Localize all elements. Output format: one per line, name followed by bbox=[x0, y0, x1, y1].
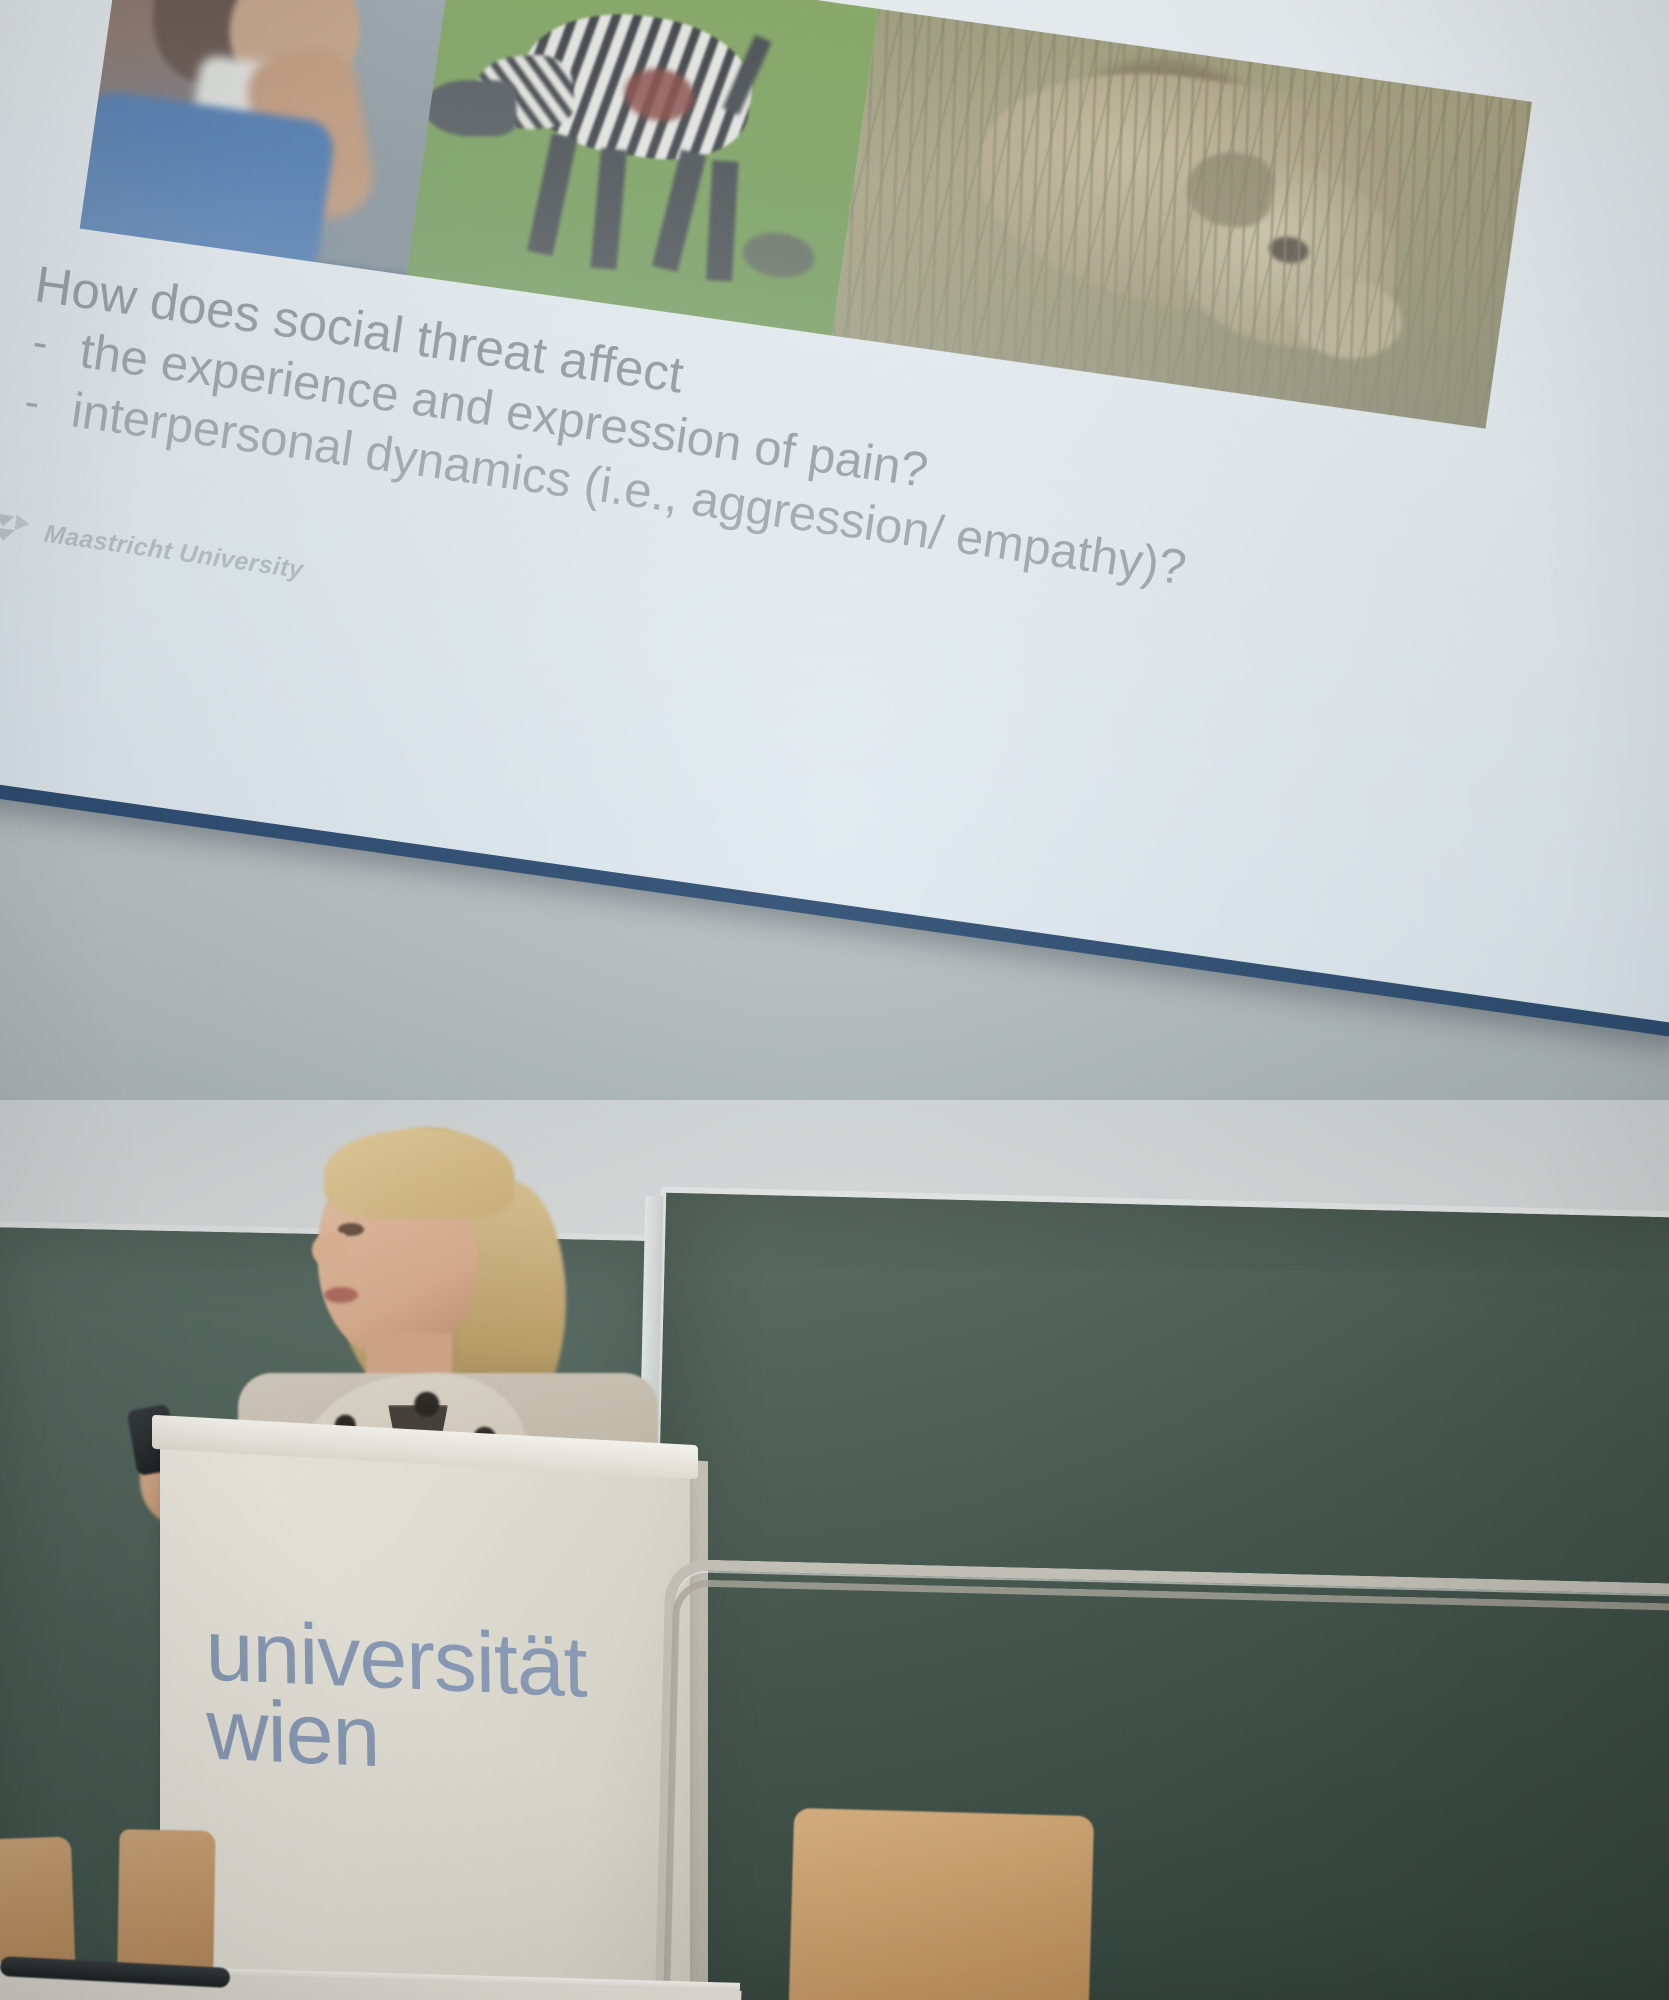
bullet-dash-icon: - bbox=[29, 316, 51, 371]
lecture-hall-lower: universität wien bbox=[0, 1100, 1669, 2000]
stage-railing-inner bbox=[663, 1579, 1669, 2000]
bullet-dash-icon: - bbox=[21, 375, 43, 430]
photograph-scene: Experience and expression o bbox=[0, 0, 1669, 2000]
maastricht-university-label: Maastricht University bbox=[42, 519, 305, 585]
photo-mother-and-child bbox=[80, 0, 453, 275]
univie-logo: universität wien bbox=[205, 1611, 588, 1787]
maastricht-university-logo: Maastricht University bbox=[0, 509, 305, 587]
photo-lion-in-grass bbox=[832, 9, 1532, 429]
maastricht-seal-icon bbox=[0, 509, 33, 548]
photo-injured-zebra bbox=[406, 0, 878, 336]
